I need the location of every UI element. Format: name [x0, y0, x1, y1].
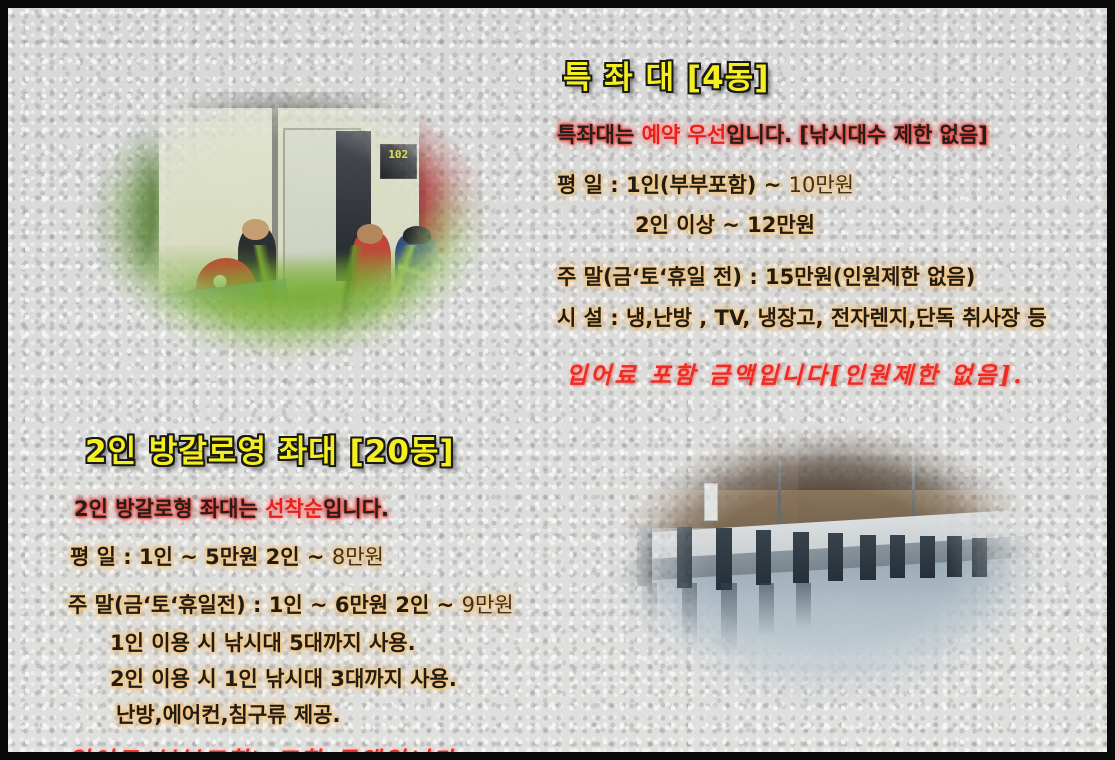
hut-reflection	[600, 583, 615, 654]
special-facilities-line: 시 설 : 냉,난방 , TV, 냉장고, 전자렌지,단독 취사장 등	[557, 302, 1047, 332]
subtitle-pre: 2인 방갈로형 좌대는	[74, 497, 265, 521]
utility-pole-cap	[96, 79, 109, 89]
lake-pier-photo	[580, 406, 1076, 728]
right-reeds	[398, 173, 518, 382]
subtitle-pre: 특좌대는	[557, 123, 642, 147]
hut-reflection	[642, 583, 657, 654]
special-weekday-price-line: 평 일 : 1인(부부포함) ~ 10만원	[557, 169, 1047, 199]
bungalow-amenities: 난방,에어컨,침구류 제공.	[116, 699, 514, 729]
pier-hut	[890, 535, 905, 578]
weekday-price-amount: 10만원	[789, 173, 854, 197]
pier-hut	[920, 536, 935, 578]
bungalow-seats-section: 2인 방갈로영 좌대 [20동] 2인 방갈로형 좌대는 선착순입니다. 평 일…	[68, 426, 514, 760]
bungalow-weekend-price-line: 주 말(금‘토‘휴일전) : 1인 ~ 6만원 2인 ~ 9만원	[68, 589, 514, 619]
bungalow-rule-two-person: 2인 이용 시 1인 낚시대 3대까지 사용.	[110, 663, 514, 693]
weekend-price-amount: 9만원	[462, 593, 514, 617]
bungalow-rule-one-person: 1인 이용 시 낚시대 5대까지 사용.	[110, 627, 514, 657]
fishing-cabin-photo: 102	[58, 56, 518, 382]
subtitle-post: 입니다.	[323, 497, 389, 521]
special-seats-title: 특 좌 대 [4동]	[563, 52, 1047, 97]
white-signboard	[704, 483, 718, 520]
poster-root: 102	[0, 0, 1115, 760]
special-seats-subtitle: 특좌대는 예약 우선입니다. [낚시대수 제한 없음]	[557, 119, 1047, 149]
bungalow-footnote: 입어료(부부포함) 포함 금액입니다.	[68, 741, 514, 760]
bungalow-subtitle: 2인 방갈로형 좌대는 선착순입니다.	[74, 493, 514, 523]
pier-hut	[595, 522, 610, 583]
cabin-roof-bar	[145, 92, 439, 108]
pier-hut	[793, 532, 808, 584]
person-1-head	[242, 219, 268, 240]
pier-hut	[677, 527, 692, 588]
power-pole-1	[620, 445, 622, 522]
weekday-price-strong: 평 일 : 1인 ~ 5만원 2인 ~	[70, 545, 332, 569]
pier-hut	[716, 528, 731, 589]
subtitle-highlight: 선착순	[265, 497, 323, 521]
special-twoplus-price-line: 2인 이상 ~ 12만원	[635, 209, 1047, 239]
hut-reflection	[682, 583, 697, 654]
pier-hut	[828, 533, 843, 581]
hut-reflection	[796, 583, 811, 628]
hut-reflection	[721, 583, 736, 654]
pier-hut	[972, 538, 987, 577]
power-pole-2	[778, 458, 780, 529]
cabin-number-text: 102	[381, 145, 416, 166]
subtitle-post: 입니다. [낚시대수 제한 없음]	[726, 123, 988, 147]
weekday-price-strong: 평 일 : 1인(부부포함) ~	[557, 173, 789, 197]
special-seats-section: 특 좌 대 [4동] 특좌대는 예약 우선입니다. [낚시대수 제한 없음] 평…	[557, 52, 1047, 390]
pier-hut	[860, 535, 875, 580]
bungalow-weekday-price-line: 평 일 : 1인 ~ 5만원 2인 ~ 8만원	[70, 541, 514, 571]
weekend-price-strong: 주 말(금‘토‘휴일전) : 1인 ~ 6만원 2인 ~	[68, 593, 462, 617]
pier-hut	[947, 536, 962, 576]
subtitle-highlight: 예약 우선	[642, 123, 727, 147]
pier-hut	[637, 525, 652, 586]
special-weekend-price-line: 주 말(금‘토‘휴일 전) : 15만원(인원제한 없음)	[557, 261, 1047, 291]
weekday-price-amount: 8만원	[332, 545, 384, 569]
special-footnote: 입어료 포함 금액입니다[인원제한 없음].	[566, 356, 1047, 390]
pier-hut	[756, 530, 771, 585]
bungalow-title: 2인 방갈로영 좌대 [20동]	[85, 426, 514, 471]
hut-reflection	[759, 583, 774, 635]
